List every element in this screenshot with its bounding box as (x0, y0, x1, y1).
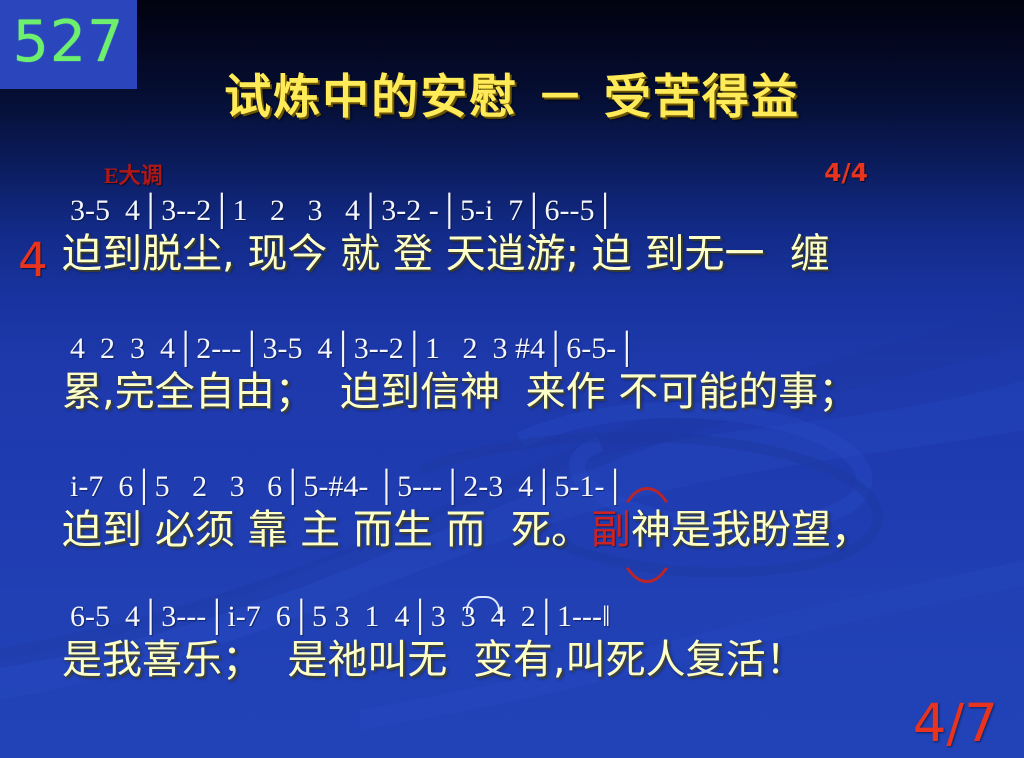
page-title: 试炼中的安慰 － 受苦得益 (0, 74, 1024, 121)
notation-line-4: 6-5 4│3---│i-7 6│5 3 1 4│3 3 4 2│1---‖ (0, 602, 1024, 632)
staff-line-2: 4 2 3 4│2---│3-5 4│3--2│1 2 3 #4│6-5-│ 累… (0, 334, 1024, 415)
page-indicator: 4/7 (913, 697, 998, 750)
notation-line-1: 3-5 4│3--2│1 2 3 4│3-2 -│5-i 7│6--5│ (0, 196, 1024, 226)
lyrics-line-4: 是我喜乐； 是祂叫无 变有,叫死人复活！ (0, 638, 1024, 683)
notation-line-2: 4 2 3 4│2---│3-5 4│3--2│1 2 3 #4│6-5-│ (0, 334, 1024, 364)
chorus-marker-char: 副 (591, 507, 631, 553)
slur-mark-icon (466, 596, 500, 614)
hymn-slide: 527 试炼中的安慰 － 受苦得益 E大调 4/4 4 3-5 4│3--2│1… (0, 0, 1024, 758)
key-signature-label: E大调 (104, 158, 163, 190)
lyrics-line-2: 累,完全自由； 迫到信神 来作 不可能的事； (0, 370, 1024, 415)
hymn-number: 527 (13, 14, 125, 75)
lyrics-line-1: 迫到脱尘, 现今 就 登 天逍游; 迫 到无一 缠 (0, 232, 1024, 277)
staff-line-4: 6-5 4│3---│i-7 6│5 3 1 4│3 3 4 2│1---‖ 是… (0, 602, 1024, 683)
lyrics-line-3: 迫到 必须 靠 主 而生 而 死。副神是我盼望， (0, 508, 1024, 553)
staff-line-3: i-7 6│5 2 3 6│5-#4- │5---│2-3 4│5-1-│ 迫到… (0, 472, 1024, 553)
staff-line-1: 3-5 4│3--2│1 2 3 4│3-2 -│5-i 7│6--5│ 迫到脱… (0, 196, 1024, 277)
time-signature-label: 4/4 (824, 158, 868, 187)
notation-line-3: i-7 6│5 2 3 6│5-#4- │5---│2-3 4│5-1-│ (0, 472, 1024, 502)
